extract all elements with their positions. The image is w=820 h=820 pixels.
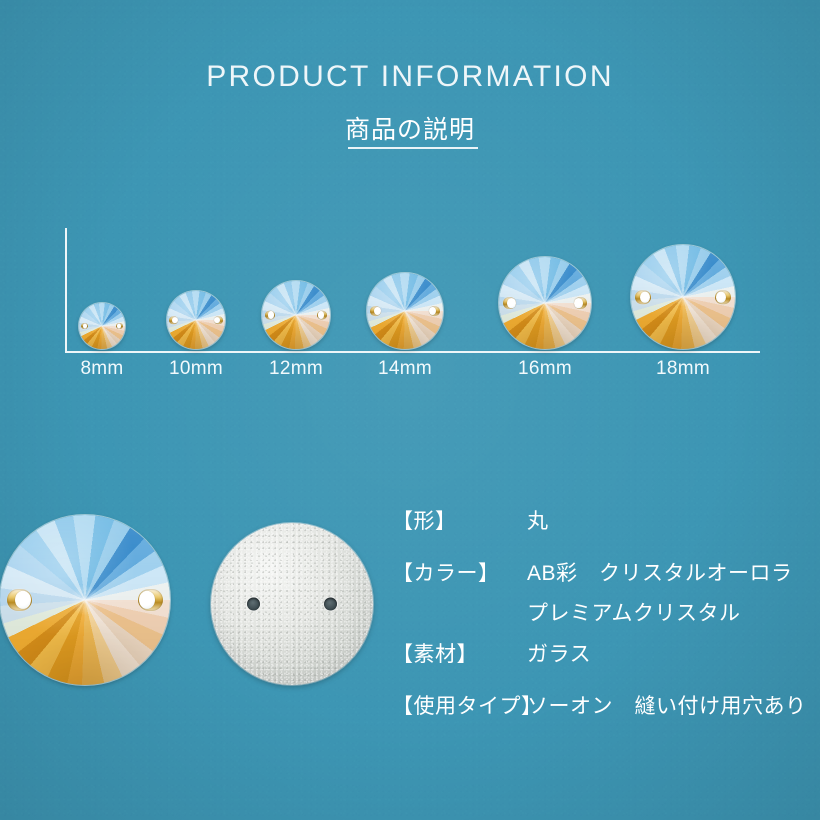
page-subtitle: 商品の説明 [0, 110, 820, 146]
back-disc-texture [211, 523, 373, 685]
sew-hole-right [138, 589, 164, 611]
size-gem-10mm [167, 291, 225, 349]
sew-hole-left [503, 297, 517, 309]
spec-key: 【使用タイプ】 [392, 690, 543, 720]
spec-value: ガラス [527, 638, 591, 668]
spec-key: 【カラー】 [392, 557, 500, 587]
spec-value: ソーオン 縫い付け用穴あり [527, 690, 807, 720]
back-sew-hole-left [247, 598, 260, 611]
size-label-16mm: 16mm [518, 358, 572, 380]
back-sew-hole-right [324, 598, 337, 611]
spec-key: 【形】 [392, 505, 457, 535]
size-label-14mm: 14mm [378, 358, 432, 380]
size-label-12mm: 12mm [269, 358, 323, 380]
sew-hole-right [116, 323, 123, 329]
size-gem-12mm [262, 281, 330, 349]
spec-value: AB彩 クリスタルオーロラ [527, 557, 793, 587]
size-label-8mm: 8mm [80, 358, 123, 380]
sew-hole-left [635, 290, 651, 304]
size-gem-8mm [79, 303, 125, 349]
rivoli-crystal-front-detail [0, 515, 170, 685]
sew-hole-left [169, 316, 178, 324]
sew-hole-left [265, 311, 275, 320]
spec-key: 【素材】 [392, 638, 478, 668]
size-gem-16mm [499, 257, 591, 349]
rivoli-crystal-back-detail [211, 523, 373, 685]
size-gem-18mm [631, 245, 735, 349]
page-title: PRODUCT INFORMATION [0, 60, 820, 94]
sew-hole-right [429, 306, 440, 316]
size-label-18mm: 18mm [656, 358, 710, 380]
sew-hole-right [715, 290, 731, 304]
size-gem-14mm [367, 273, 443, 349]
spec-value: 丸 [527, 505, 549, 535]
product-information-page: PRODUCT INFORMATION 商品の説明 8mm10mm12mm14m… [0, 0, 820, 820]
sew-hole-left [81, 323, 88, 329]
size-label-10mm: 10mm [169, 358, 223, 380]
sew-hole-right [574, 297, 588, 309]
sew-hole-right [317, 311, 327, 320]
sew-hole-left [370, 306, 381, 316]
subtitle-underline [348, 147, 478, 149]
size-chart-start-tick [65, 228, 67, 352]
sew-hole-left [7, 589, 33, 611]
size-chart-baseline [65, 351, 760, 353]
sew-hole-right [214, 316, 223, 324]
spec-value-line2: プレミアムクリスタル [527, 597, 741, 627]
